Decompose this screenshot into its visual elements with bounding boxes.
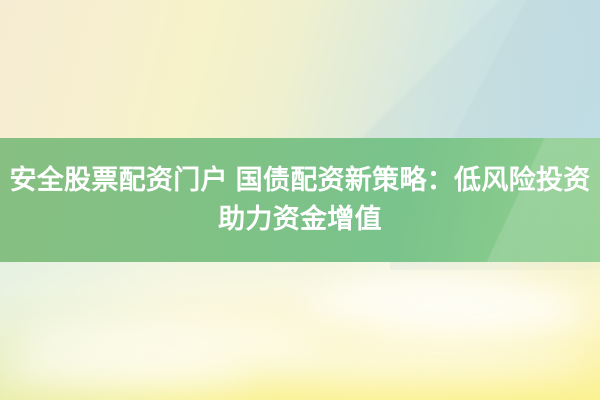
article-header-banner: 安全股票配资门户 国债配资新策略：低风险投资 助力资金增值	[0, 0, 600, 400]
cloud-wisp	[0, 350, 260, 390]
cloud-wisp	[250, 338, 590, 382]
cloud-wisp	[340, 268, 520, 294]
title-band: 安全股票配资门户 国债配资新策略：低风险投资 助力资金增值	[0, 138, 600, 262]
banner-title-line-1: 安全股票配资门户 国债配资新策略：低风险投资	[9, 161, 590, 200]
cloud-wisp	[380, 300, 600, 334]
banner-title-line-2: 助力资金增值	[218, 200, 382, 239]
